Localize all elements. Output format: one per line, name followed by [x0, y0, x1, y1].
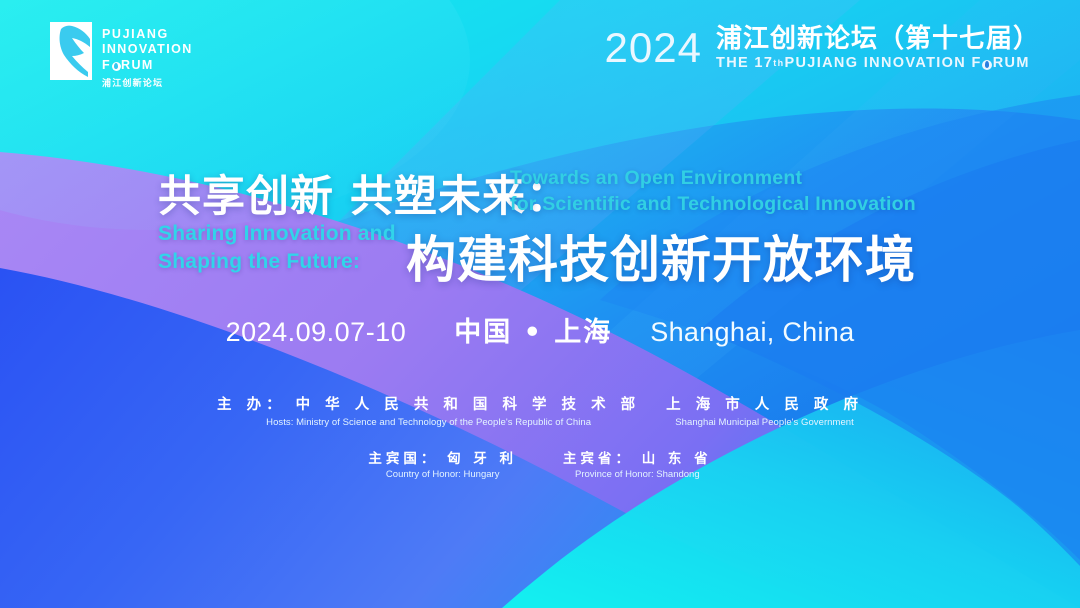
date-location-bar: 2024.09.07-10 中国 • 上海 Shanghai, China [0, 310, 1080, 349]
host-item: 上 海 市 人 民 政 府 Shanghai Municipal People'… [666, 396, 863, 428]
header-en-pre: THE 17 [716, 54, 773, 73]
event-location-cn: 中国 • 上海 [454, 310, 612, 349]
guests-of-honor-block: 主宾国： 匈 牙 利 Country of Honor: Hungary 主宾省… [0, 450, 1080, 480]
logo-line-innovation: INNOVATION [102, 42, 193, 57]
logo-chinese-name: 浦江创新论坛 [102, 76, 193, 89]
guest-item: 主宾省： 山 东 省 Province of Honor: Shandong [563, 450, 712, 480]
header-en-mid: PUJIANG INNOVATION F [784, 54, 981, 73]
guest-name-cn: 主宾省： 山 东 省 [563, 450, 712, 468]
logo-forum-rum: RUM [121, 58, 154, 73]
header-title-cn: 浦江创新论坛（第十七届） [716, 24, 1040, 53]
main-title-block: 共享创新 共塑未来： Towards an Open Environment f… [0, 160, 1080, 280]
title-en-left-line1: Sharing Innovation and [158, 220, 396, 248]
title-en-right-line2: for Scientific and Technological Innovat… [510, 192, 916, 218]
host-item: 主 办： 中 华 人 民 共 和 国 科 学 技 术 部 Hosts: Mini… [217, 396, 640, 428]
host-name-cn: 上 海 市 人 民 政 府 [666, 396, 863, 416]
title-en-left: Sharing Innovation and Shaping the Futur… [158, 220, 396, 275]
forum-logo[interactable]: PUJIANG INNOVATION F RUM 浦江创新论坛 [50, 22, 193, 89]
host-name-en: Shanghai Municipal People's Government [666, 417, 863, 428]
header-brand-block: 2024 浦江创新论坛（第十七届） THE 17th PUJIANG INNOV… [605, 24, 1040, 73]
background-artwork [0, 0, 1080, 608]
pujiang-s-mark-icon [50, 22, 92, 80]
header-en-ordinal: th [773, 58, 784, 70]
header-en-post: RUM [993, 54, 1030, 73]
title-cn-line2: 构建科技创新开放环境 [406, 220, 916, 292]
event-location-en: Shanghai, China [650, 317, 854, 348]
header-year: 2024 [605, 27, 702, 69]
logo-forum-f: F [102, 58, 111, 73]
header-title-en: THE 17th PUJIANG INNOVATION FRUM [716, 54, 1040, 73]
host-name-cn: 主 办： 中 华 人 民 共 和 国 科 学 技 术 部 [217, 396, 640, 416]
guest-name-en: Country of Honor: Hungary [368, 469, 517, 480]
host-name-en: Hosts: Ministry of Science and Technolog… [217, 417, 640, 428]
title-cn-line1: 共享创新 共塑未来： [158, 162, 570, 224]
title-en-left-line2: Shaping the Future: [158, 248, 396, 276]
event-date: 2024.09.07-10 [226, 317, 407, 348]
poster-canvas: PUJIANG INNOVATION F RUM 浦江创新论坛 2024 浦江创… [0, 0, 1080, 608]
hosts-block: 主 办： 中 华 人 民 共 和 国 科 学 技 术 部 Hosts: Mini… [0, 396, 1080, 428]
guest-name-cn: 主宾国： 匈 牙 利 [368, 450, 517, 468]
title-en-right-line1: Towards an Open Environment [510, 166, 916, 192]
logo-text-block: PUJIANG INNOVATION F RUM 浦江创新论坛 [102, 22, 193, 89]
header-circle-o-icon [982, 60, 992, 70]
logo-circle-o-icon [112, 62, 121, 71]
logo-line-pujiang: PUJIANG [102, 27, 193, 42]
logo-line-forum: F RUM [102, 58, 193, 73]
guest-item: 主宾国： 匈 牙 利 Country of Honor: Hungary [368, 450, 517, 480]
guest-name-en: Province of Honor: Shandong [563, 469, 712, 480]
title-en-right: Towards an Open Environment for Scientif… [510, 166, 916, 218]
